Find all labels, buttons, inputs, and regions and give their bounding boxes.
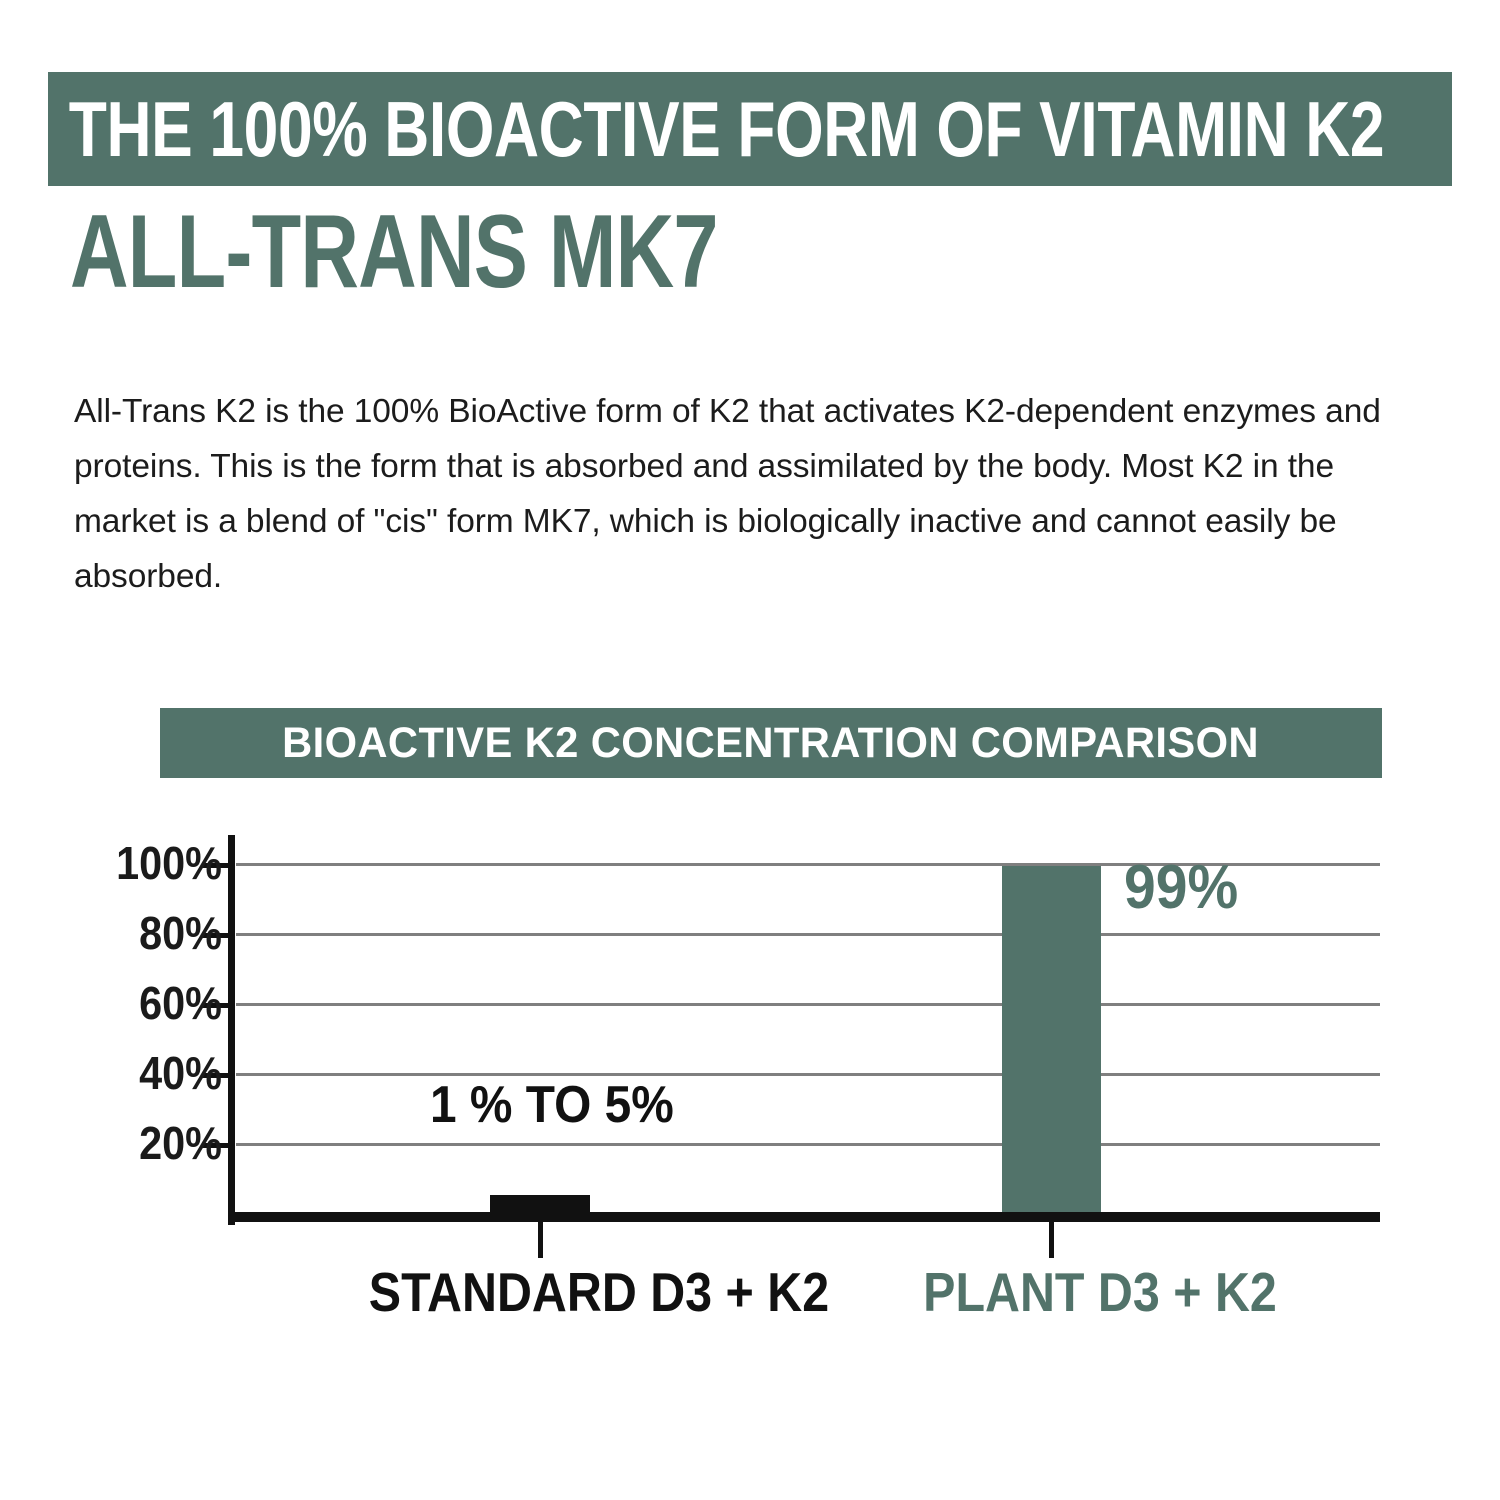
sub-headline: ALL-TRANS MK7 — [70, 196, 718, 308]
page-title: THE 100% BIOACTIVE FORM OF VITAMIN K2 — [48, 90, 1384, 168]
bar-value-label-standard: 1 % TO 5% — [430, 1075, 674, 1135]
y-axis-label-20: 20% — [24, 1120, 222, 1166]
gridline-60 — [236, 1003, 1380, 1006]
chart-title: BIOACTIVE K2 CONCENTRATION COMPARISON — [283, 719, 1260, 768]
category-label-standard: STANDARD D3 + K2 — [369, 1260, 791, 1324]
bar-standard-d3-k2 — [490, 1195, 590, 1212]
x-axis-line — [228, 1212, 1380, 1222]
y-axis-label-100: 100% — [24, 840, 222, 886]
category-label-plant: PLANT D3 + K2 — [889, 1260, 1311, 1324]
gridline-20 — [236, 1143, 1380, 1146]
y-axis-line — [228, 835, 235, 1225]
y-axis-label-40: 40% — [24, 1050, 222, 1096]
chart-title-banner: BIOACTIVE K2 CONCENTRATION COMPARISON — [160, 708, 1382, 778]
y-axis-label-80: 80% — [24, 910, 222, 956]
body-paragraph: All-Trans K2 is the 100% BioActive form … — [74, 384, 1394, 604]
x-tick-mark-standard — [538, 1220, 543, 1258]
y-axis-label-60: 60% — [24, 980, 222, 1026]
bar-value-label-plant: 99% — [1124, 852, 1238, 923]
x-tick-mark-plant — [1049, 1220, 1054, 1258]
gridline-40 — [236, 1073, 1380, 1076]
bar-chart: 100% 80% 60% 40% 20% 1 % TO 5% 99% STAND… — [0, 820, 1500, 1380]
gridline-80 — [236, 933, 1380, 936]
header-banner: THE 100% BIOACTIVE FORM OF VITAMIN K2 — [48, 72, 1452, 186]
bar-plant-d3-k2 — [1002, 866, 1101, 1212]
